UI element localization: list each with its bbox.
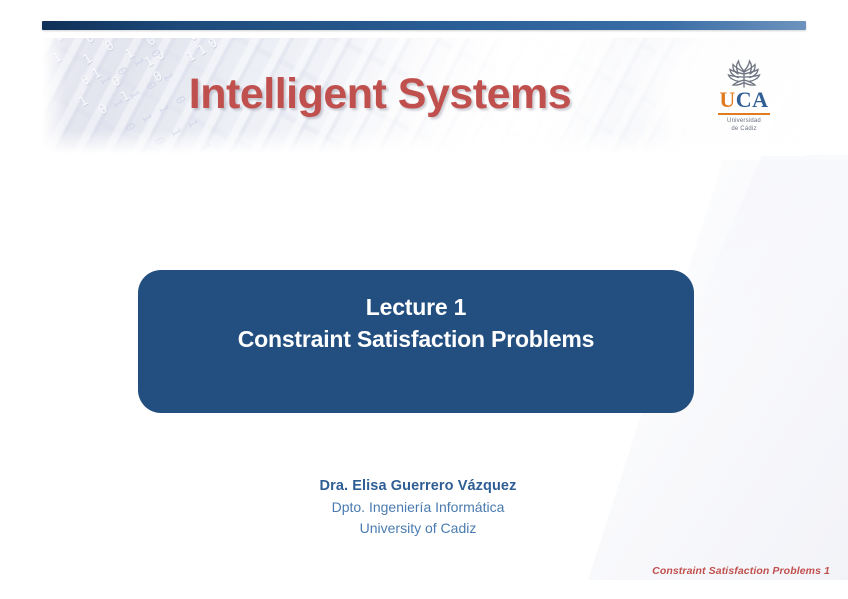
- lecture-title-text: Lecture 1 Constraint Satisfaction Proble…: [138, 292, 694, 354]
- header-banner: 10 01 1 0 0 1 01 1 1 010 1 0 1 0 1 01 01…: [42, 38, 806, 156]
- lecture-topic: Constraint Satisfaction Problems: [138, 324, 694, 354]
- author-university: University of Cadiz: [0, 518, 836, 539]
- lecture-title-box: Lecture 1 Constraint Satisfaction Proble…: [138, 270, 694, 413]
- uca-subtitle-line2: de Cádiz: [706, 125, 782, 133]
- uca-acronym: UCA: [706, 89, 782, 111]
- banner-fade-bottom: [42, 130, 806, 156]
- slide-footer: Constraint Satisfaction Problems 1: [652, 565, 830, 577]
- author-name: Dra. Elisa Guerrero Vázquez: [0, 476, 836, 497]
- top-accent-bar: [42, 21, 806, 30]
- author-department: Dpto. Ingeniería Informática: [0, 497, 836, 518]
- uca-subtitle-line1: Universidad: [706, 117, 782, 125]
- uca-letters-ca: CA: [736, 87, 769, 112]
- author-block: Dra. Elisa Guerrero Vázquez Dpto. Ingeni…: [0, 476, 848, 539]
- slide-canvas: 10 01 1 0 0 1 01 1 1 010 1 0 1 0 1 01 01…: [0, 0, 848, 599]
- uca-letter-u: U: [719, 87, 735, 112]
- lecture-number: Lecture 1: [138, 292, 694, 322]
- course-title: Intelligent Systems: [42, 70, 806, 119]
- uca-wheat-emblem-icon: [706, 58, 782, 88]
- uca-underline: [718, 113, 770, 115]
- uca-logo: UCA Universidad de Cádiz: [706, 58, 782, 133]
